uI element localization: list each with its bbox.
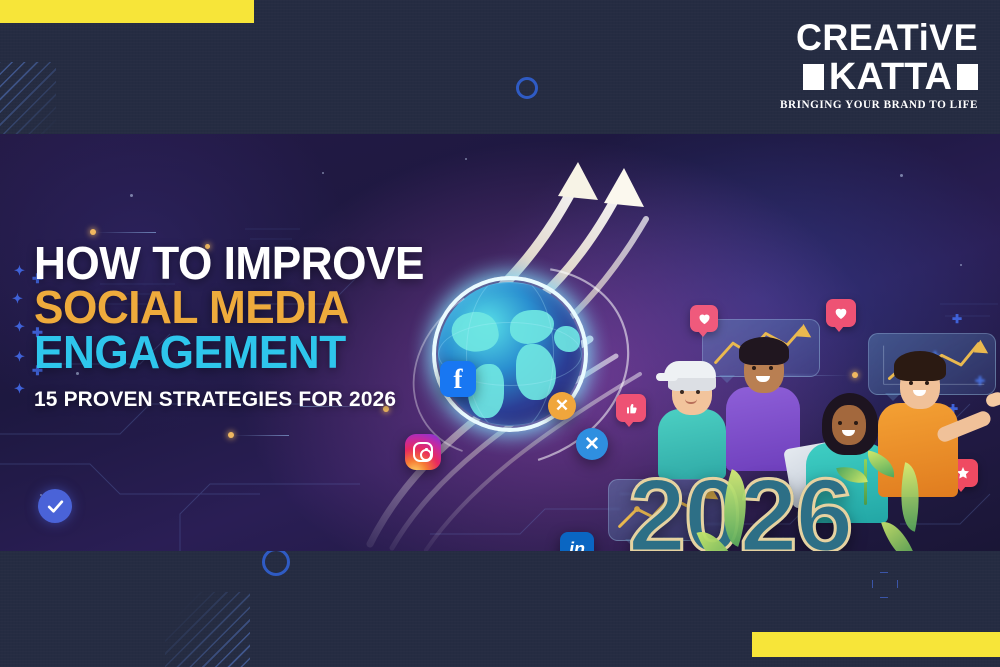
diagonal-lines-bottom-left (165, 592, 250, 667)
heart-reaction-2 (826, 299, 856, 327)
headline-line-1: HOW TO IMPROVE (34, 242, 437, 284)
subheadline: 15 PROVEN STRATEGIES FOR 2026 (34, 387, 441, 412)
check-icon (46, 497, 65, 516)
brand-logo: CREATiVE KATTA BRINGING YOUR BRAND TO LI… (768, 20, 978, 111)
heart-reaction-1 (690, 305, 718, 332)
thumbs-up-reaction (616, 394, 646, 422)
instagram-icon[interactable] (405, 434, 441, 470)
circle-outline-decor-bottom (262, 548, 290, 576)
logo-word-katta: KATTA (829, 59, 952, 95)
poster-artwork-panel: ✦ ✚ ✦ ✦ ✚ ✦ ✚ ✦ ✚ ✚ ✚ ✚ HOW TO IMPROVE S… (0, 134, 1000, 551)
headline-line-2: SOCIAL MEDIA (34, 286, 437, 328)
linkedin-icon[interactable]: in (560, 532, 594, 551)
x-glyph-orange: ✕ (555, 396, 569, 416)
logo-tagline: BRINGING YOUR BRAND TO LIFE (768, 99, 978, 111)
facebook-icon[interactable]: f (440, 361, 476, 397)
yellow-accent-bar-top (0, 0, 254, 23)
plus-outline-decor (872, 572, 896, 596)
poster-frame: CREATiVE KATTA BRINGING YOUR BRAND TO LI… (0, 0, 1000, 667)
logo-square-right (957, 64, 978, 90)
circle-outline-decor-top (516, 77, 538, 99)
headline-line-3: ENGAGEMENT (34, 331, 437, 373)
logo-word-katta-row: KATTA (768, 59, 978, 95)
x-twitter-icon-blue[interactable]: ✕ (576, 428, 608, 460)
x-glyph-blue: ✕ (584, 433, 600, 456)
logo-word-creative: CREATiVE (774, 20, 978, 56)
logo-square-left (803, 64, 824, 90)
x-twitter-icon-orange[interactable]: ✕ (548, 392, 576, 420)
facebook-glyph: f (454, 366, 463, 393)
yellow-accent-bar-bottom (752, 632, 1000, 657)
instagram-camera-glyph (413, 442, 433, 462)
verified-check-badge (38, 489, 72, 523)
linkedin-glyph: in (569, 539, 585, 552)
